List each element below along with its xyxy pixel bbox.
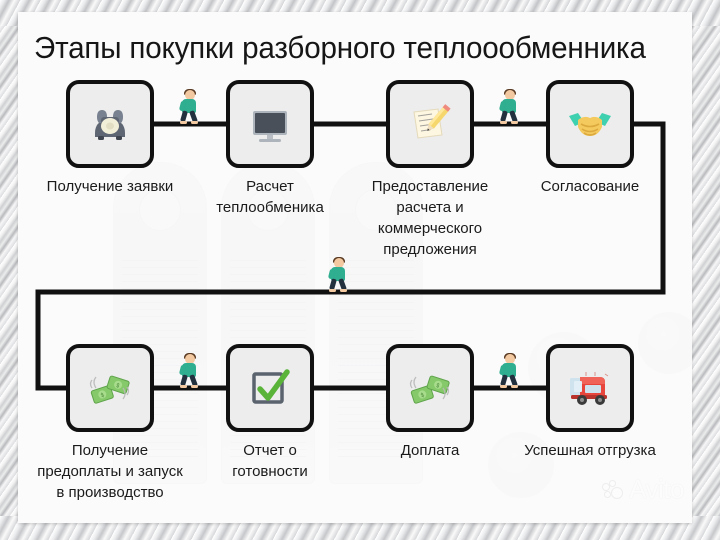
step-6-box[interactable]: [226, 344, 314, 432]
step-3[interactable]: Предоставление расчета и коммерческого п…: [386, 80, 474, 168]
step-1-box[interactable]: [66, 80, 154, 168]
step-7[interactable]: $ $ Доплата: [386, 344, 474, 432]
walking-person-icon: [499, 354, 521, 388]
step-7-label: Доплата: [342, 440, 518, 461]
step-4-box[interactable]: [546, 80, 634, 168]
step-8-label: Успешная отгрузка: [502, 440, 678, 461]
step-4[interactable]: Согласование: [546, 80, 634, 168]
telephone-icon: [85, 99, 135, 149]
walking-person-icon: [328, 258, 350, 292]
step-3-box[interactable]: [386, 80, 474, 168]
page-title: Этапы покупки разборного теплоообменника: [34, 28, 664, 68]
step-8[interactable]: Успешная отгрузка: [546, 344, 634, 432]
money-icon: $ $: [405, 363, 455, 413]
infographic-root: Этапы покупки разборного теплоообменника: [0, 0, 720, 540]
walking-person-icon: [179, 354, 201, 388]
step-5[interactable]: $ $ Получение предоплаты и з: [66, 344, 154, 432]
step-7-box[interactable]: $ $: [386, 344, 474, 432]
monitor-icon: [245, 99, 295, 149]
step-3-label: Предоставление расчета и коммерческого п…: [332, 176, 528, 260]
step-6-label: Отчет о готовности: [182, 440, 358, 482]
step-5-label: Получение предоплаты и запуск в производ…: [18, 440, 208, 503]
avito-logo-icon: [603, 481, 625, 499]
truck-icon: [565, 363, 615, 413]
walking-person-icon: [179, 90, 201, 124]
step-6[interactable]: Отчет о готовности: [226, 344, 314, 432]
walking-person-icon: [499, 90, 521, 124]
content-card: Этапы покупки разборного теплоообменника: [18, 12, 692, 523]
avito-wordmark: Avito: [629, 474, 684, 505]
step-5-box[interactable]: $ $: [66, 344, 154, 432]
money-icon: $ $: [85, 363, 135, 413]
checkbox-icon: [245, 363, 295, 413]
step-2[interactable]: Расчет теплообменика: [226, 80, 314, 168]
step-1-label: Получение заявки: [22, 176, 198, 197]
memo-pencil-icon: [405, 99, 455, 149]
step-8-box[interactable]: [546, 344, 634, 432]
step-4-label: Согласование: [502, 176, 678, 197]
step-2-box[interactable]: [226, 80, 314, 168]
step-1[interactable]: Получение заявки: [66, 80, 154, 168]
avito-watermark: Avito: [603, 474, 684, 505]
handshake-icon: [565, 99, 615, 149]
